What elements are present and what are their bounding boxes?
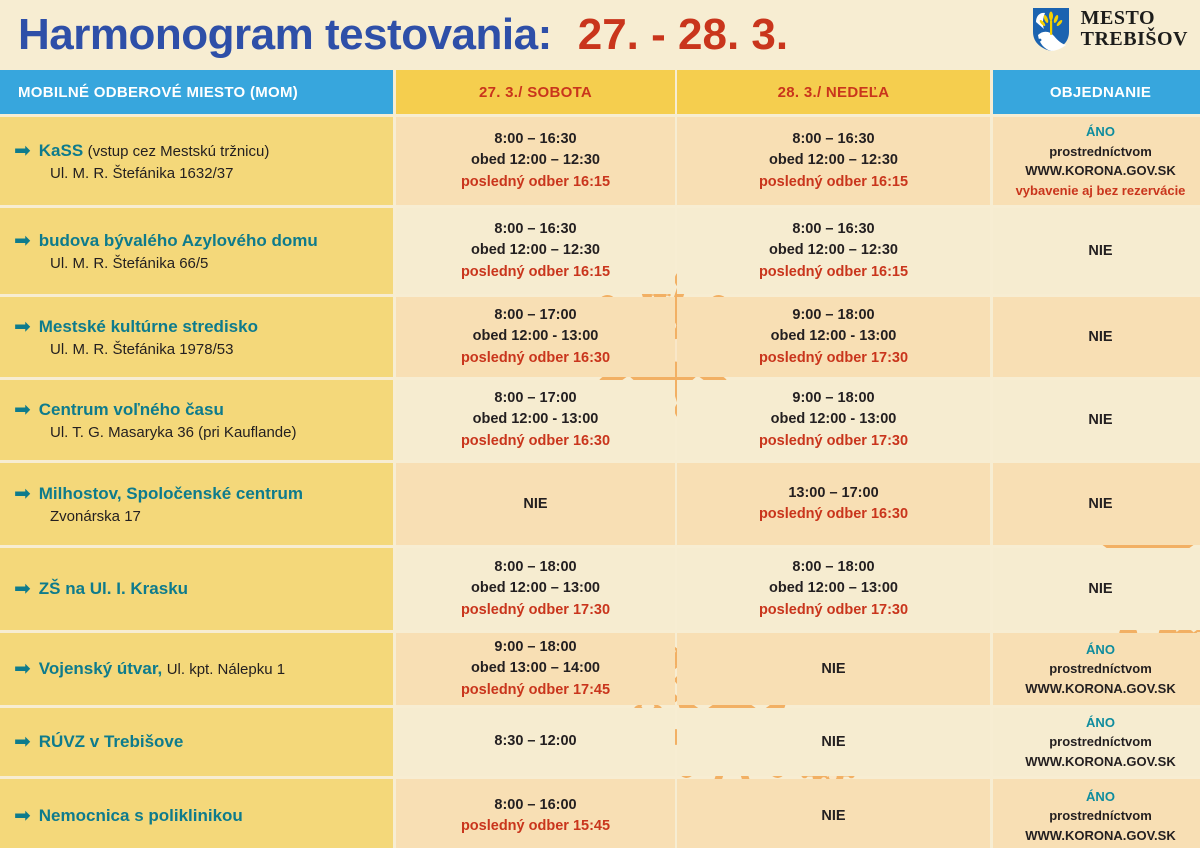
- schedule-table: MOBILNÉ ODBEROVÉ MIESTO (MOM) 27. 3./ SO…: [0, 70, 1200, 848]
- table-row: ➡budova bývalého Azylového domuUl. M. R.…: [0, 208, 1200, 294]
- cell-booking: ÁNOprostredníctvomWWW.KORONA.GOV.SK: [993, 708, 1200, 776]
- city-logo: MESTO TREBIŠOV: [1031, 6, 1188, 52]
- booking-none: NIE: [1088, 329, 1112, 345]
- cell-booking: ÁNOprostredníctvomWWW.KORONA.GOV.SK: [993, 779, 1200, 848]
- cell-sunday: NIE: [677, 779, 990, 848]
- arrow-right-icon: ➡: [14, 141, 31, 161]
- page-title: Harmonogram testovania:: [18, 13, 552, 57]
- hours-last-sample: posledný odber 17:30: [759, 348, 908, 369]
- cell-saturday: 8:00 – 16:30obed 12:00 – 12:30posledný o…: [396, 208, 675, 294]
- column-header-booking: OBJEDNANIE: [993, 70, 1200, 114]
- cell-sunday: 9:00 – 18:00obed 12:00 - 13:00posledný o…: [677, 380, 990, 460]
- hours-lunch: obed 12:00 – 13:00: [471, 578, 600, 599]
- cell-booking: ÁNOprostredníctvomWWW.KORONA.GOV.SK: [993, 633, 1200, 705]
- table-header-row: MOBILNÉ ODBEROVÉ MIESTO (MOM) 27. 3./ SO…: [0, 70, 1200, 114]
- hours-open: 13:00 – 17:00: [788, 483, 878, 504]
- hours-last-sample: posledný odber 16:15: [461, 262, 610, 283]
- hours-lunch: obed 12:00 – 12:30: [471, 240, 600, 261]
- place-name: ZŠ na Ul. I. Krasku: [39, 579, 188, 598]
- place-name: Mestské kultúrne stredisko: [39, 317, 258, 336]
- hours-last-sample: posledný odber 16:30: [759, 504, 908, 525]
- hours-lunch: obed 12:00 - 13:00: [473, 326, 599, 347]
- hours-open: 8:00 – 18:00: [494, 557, 576, 578]
- hours-open: 8:00 – 16:30: [792, 219, 874, 240]
- hours-open: 8:00 – 16:30: [494, 219, 576, 240]
- place-name: KaSS: [39, 141, 83, 160]
- hours-last-sample: posledný odber 17:45: [461, 680, 610, 701]
- place-address: Zvonárska 17: [50, 508, 383, 525]
- cell-sunday: NIE: [677, 708, 990, 776]
- arrow-right-icon: ➡: [14, 806, 31, 826]
- hours-open: 9:00 – 18:00: [792, 388, 874, 409]
- hours-last-sample: posledný odber 16:30: [461, 348, 610, 369]
- hours-none: NIE: [523, 496, 547, 512]
- booking-none: NIE: [1088, 412, 1112, 428]
- table-row: ➡Mestské kultúrne strediskoUl. M. R. Šte…: [0, 297, 1200, 377]
- title-bar: Harmonogram testovania: 27. - 28. 3. MES…: [0, 0, 1200, 70]
- booking-via: prostredníctvom: [1049, 732, 1152, 752]
- table-row: ➡Centrum voľného časuUl. T. G. Masaryka …: [0, 380, 1200, 460]
- table-row: ➡KaSS (vstup cez Mestskú tržnicu)Ul. M. …: [0, 117, 1200, 205]
- hours-none: NIE: [821, 734, 845, 750]
- booking-none: NIE: [1088, 243, 1112, 259]
- hours-lunch: obed 13:00 – 14:00: [471, 658, 600, 679]
- cell-booking: NIE: [993, 297, 1200, 377]
- hours-last-sample: posledný odber 17:30: [759, 431, 908, 452]
- hours-open: 8:30 – 12:00: [494, 731, 576, 752]
- hours-last-sample: posledný odber 15:45: [461, 816, 610, 837]
- place-name: budova bývalého Azylového domu: [39, 231, 318, 250]
- cell-saturday: 8:00 – 16:30obed 12:00 – 12:30posledný o…: [396, 117, 675, 205]
- place-name: Vojenský útvar,: [39, 659, 162, 678]
- booking-none: NIE: [1088, 581, 1112, 597]
- hours-lunch: obed 12:00 - 13:00: [473, 409, 599, 430]
- cell-saturday: 8:30 – 12:00: [396, 708, 675, 776]
- place-address: Ul. M. R. Štefánika 1978/53: [50, 341, 383, 358]
- hours-last-sample: posledný odber 16:15: [461, 172, 610, 193]
- cell-location: ➡Milhostov, Spoločenské centrumZvonárska…: [0, 463, 393, 545]
- hours-last-sample: posledný odber 16:15: [759, 172, 908, 193]
- place-name: RÚVZ v Trebišove: [39, 732, 184, 751]
- column-header-saturday: 27. 3./ SOBOTA: [396, 70, 675, 114]
- cell-location: ➡Nemocnica s poliklinikou: [0, 779, 393, 848]
- place-name: Nemocnica s poliklinikou: [39, 806, 243, 825]
- cell-booking: NIE: [993, 380, 1200, 460]
- booking-none: NIE: [1088, 496, 1112, 512]
- table-row: ➡RÚVZ v Trebišove8:30 – 12:00NIEÁNOprost…: [0, 708, 1200, 776]
- booking-yes: ÁNO: [1086, 713, 1115, 733]
- hours-open: 8:00 – 18:00: [792, 557, 874, 578]
- place-extra: Ul. kpt. Nálepku 1: [167, 661, 285, 678]
- booking-via: prostredníctvom: [1049, 659, 1152, 679]
- cell-sunday: 8:00 – 18:00obed 12:00 – 13:00posledný o…: [677, 548, 990, 630]
- cell-booking: ÁNOprostredníctvomWWW.KORONA.GOV.SKvybav…: [993, 117, 1200, 205]
- cell-location: ➡Centrum voľného časuUl. T. G. Masaryka …: [0, 380, 393, 460]
- cell-sunday: 8:00 – 16:30obed 12:00 – 12:30posledný o…: [677, 208, 990, 294]
- hours-open: 8:00 – 16:00: [494, 795, 576, 816]
- cell-sunday: 9:00 – 18:00obed 12:00 - 13:00posledný o…: [677, 297, 990, 377]
- arrow-right-icon: ➡: [14, 317, 31, 337]
- place-extra: (vstup cez Mestskú tržnicu): [88, 143, 270, 160]
- arrow-right-icon: ➡: [14, 732, 31, 752]
- booking-via: prostredníctvom: [1049, 142, 1152, 162]
- cell-location: ➡KaSS (vstup cez Mestskú tržnicu)Ul. M. …: [0, 117, 393, 205]
- hours-open: 9:00 – 18:00: [792, 305, 874, 326]
- hours-last-sample: posledný odber 17:30: [759, 600, 908, 621]
- booking-url[interactable]: WWW.KORONA.GOV.SK: [1025, 752, 1175, 772]
- column-header-sunday: 28. 3./ NEDEĽA: [677, 70, 990, 114]
- column-header-mom: MOBILNÉ ODBEROVÉ MIESTO (MOM): [0, 70, 393, 114]
- table-row: ➡Milhostov, Spoločenské centrumZvonárska…: [0, 463, 1200, 545]
- coat-of-arms-icon: [1031, 6, 1071, 52]
- hours-last-sample: posledný odber 17:30: [461, 600, 610, 621]
- booking-url[interactable]: WWW.KORONA.GOV.SK: [1025, 826, 1175, 846]
- hours-lunch: obed 12:00 – 13:00: [769, 578, 898, 599]
- table-row: ➡ZŠ na Ul. I. Krasku8:00 – 18:00obed 12:…: [0, 548, 1200, 630]
- cell-booking: NIE: [993, 208, 1200, 294]
- booking-url[interactable]: WWW.KORONA.GOV.SK: [1025, 161, 1175, 181]
- cell-booking: NIE: [993, 548, 1200, 630]
- hours-none: NIE: [821, 808, 845, 824]
- booking-yes: ÁNO: [1086, 640, 1115, 660]
- hours-last-sample: posledný odber 16:30: [461, 431, 610, 452]
- hours-none: NIE: [821, 661, 845, 677]
- cell-saturday: 8:00 – 17:00obed 12:00 - 13:00posledný o…: [396, 380, 675, 460]
- cell-sunday: 13:00 – 17:00posledný odber 16:30: [677, 463, 990, 545]
- logo-line-2: TREBIŠOV: [1081, 29, 1188, 50]
- hours-lunch: obed 12:00 – 12:30: [471, 150, 600, 171]
- hours-lunch: obed 12:00 – 12:30: [769, 240, 898, 261]
- cell-booking: NIE: [993, 463, 1200, 545]
- booking-yes: ÁNO: [1086, 122, 1115, 142]
- table-row: ➡Nemocnica s poliklinikou8:00 – 16:00pos…: [0, 779, 1200, 848]
- cell-saturday: 8:00 – 17:00obed 12:00 - 13:00posledný o…: [396, 297, 675, 377]
- arrow-right-icon: ➡: [14, 231, 31, 251]
- hours-open: 8:00 – 16:30: [494, 129, 576, 150]
- cell-location: ➡RÚVZ v Trebišove: [0, 708, 393, 776]
- arrow-right-icon: ➡: [14, 659, 31, 679]
- booking-via: prostredníctvom: [1049, 806, 1152, 826]
- arrow-right-icon: ➡: [14, 484, 31, 504]
- booking-yes: ÁNO: [1086, 787, 1115, 807]
- booking-url[interactable]: WWW.KORONA.GOV.SK: [1025, 679, 1175, 699]
- poster-root: Harmonogram testovania: 27. - 28. 3. MES…: [0, 0, 1200, 848]
- hours-open: 9:00 – 18:00: [494, 637, 576, 658]
- place-name: Centrum voľného času: [39, 400, 224, 419]
- table-row: ➡Vojenský útvar, Ul. kpt. Nálepku 19:00 …: [0, 633, 1200, 705]
- place-address: Ul. M. R. Štefánika 66/5: [50, 255, 383, 272]
- place-address: Ul. T. G. Masaryka 36 (pri Kauflande): [50, 424, 383, 441]
- hours-open: 8:00 – 16:30: [792, 129, 874, 150]
- hours-lunch: obed 12:00 – 12:30: [769, 150, 898, 171]
- hours-lunch: obed 12:00 - 13:00: [771, 409, 897, 430]
- arrow-right-icon: ➡: [14, 579, 31, 599]
- hours-last-sample: posledný odber 16:15: [759, 262, 908, 283]
- cell-sunday: 8:00 – 16:30obed 12:00 – 12:30posledný o…: [677, 117, 990, 205]
- booking-note: vybavenie aj bez rezervácie: [1016, 181, 1186, 201]
- title-dates: 27. - 28. 3.: [578, 13, 788, 57]
- cell-location: ➡Mestské kultúrne strediskoUl. M. R. Šte…: [0, 297, 393, 377]
- arrow-right-icon: ➡: [14, 400, 31, 420]
- cell-sunday: NIE: [677, 633, 990, 705]
- cell-saturday: 8:00 – 18:00obed 12:00 – 13:00posledný o…: [396, 548, 675, 630]
- cell-saturday: NIE: [396, 463, 675, 545]
- place-name: Milhostov, Spoločenské centrum: [39, 484, 303, 503]
- hours-open: 8:00 – 17:00: [494, 388, 576, 409]
- cell-location: ➡Vojenský útvar, Ul. kpt. Nálepku 1: [0, 633, 393, 705]
- cell-location: ➡budova bývalého Azylového domuUl. M. R.…: [0, 208, 393, 294]
- logo-text: MESTO TREBIŠOV: [1081, 8, 1188, 50]
- cell-saturday: 8:00 – 16:00posledný odber 15:45: [396, 779, 675, 848]
- hours-lunch: obed 12:00 - 13:00: [771, 326, 897, 347]
- place-address: Ul. M. R. Štefánika 1632/37: [50, 165, 383, 182]
- logo-line-1: MESTO: [1081, 8, 1188, 29]
- hours-open: 8:00 – 17:00: [494, 305, 576, 326]
- cell-location: ➡ZŠ na Ul. I. Krasku: [0, 548, 393, 630]
- cell-saturday: 9:00 – 18:00obed 13:00 – 14:00posledný o…: [396, 633, 675, 705]
